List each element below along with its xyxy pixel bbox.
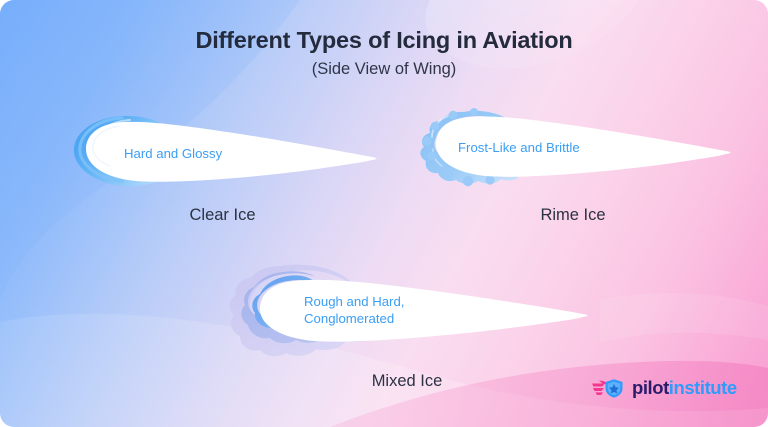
wing-diagram-mixed-ice: Rough and Hard, Conglomerated bbox=[222, 262, 592, 367]
airfoil-wing-icon bbox=[408, 104, 738, 194]
wing-group-rime-ice: Frost-Like and Brittle Rime Ice bbox=[408, 104, 728, 194]
wing-diagram-rime-ice: Frost-Like and Brittle bbox=[408, 104, 728, 194]
header: Different Types of Icing in Aviation (Si… bbox=[0, 26, 768, 80]
wing-diagram-clear-ice: Hard and Glossy bbox=[60, 108, 380, 198]
airfoil-wing-icon bbox=[222, 262, 592, 367]
page-title: Different Types of Icing in Aviation bbox=[0, 26, 768, 54]
brand-name-primary: pilot bbox=[632, 377, 669, 398]
wing-caption-rime-ice: Rime Ice bbox=[408, 206, 738, 226]
wing-caption-mixed-ice: Mixed Ice bbox=[222, 372, 592, 392]
airfoil-wing-icon bbox=[60, 108, 385, 198]
wing-group-clear-ice: Hard and Glossy Clear Ice bbox=[60, 108, 380, 198]
airfoil-body bbox=[260, 280, 588, 342]
wing-group-mixed-ice: Rough and Hard, Conglomerated Mixed Ice bbox=[222, 262, 592, 367]
brand-logo-text: pilotinstitute bbox=[632, 379, 737, 398]
airfoil-body bbox=[86, 122, 377, 182]
wing-caption-clear-ice: Clear Ice bbox=[60, 206, 385, 226]
page-subtitle: (Side View of Wing) bbox=[0, 60, 768, 80]
brand-logo[interactable]: pilotinstitute bbox=[592, 377, 737, 399]
winged-shield-star-icon bbox=[592, 377, 625, 399]
icing-types-infographic: Different Types of Icing in Aviation (Si… bbox=[0, 0, 768, 427]
airfoil-body bbox=[436, 116, 731, 176]
brand-name-secondary: institute bbox=[669, 377, 737, 398]
